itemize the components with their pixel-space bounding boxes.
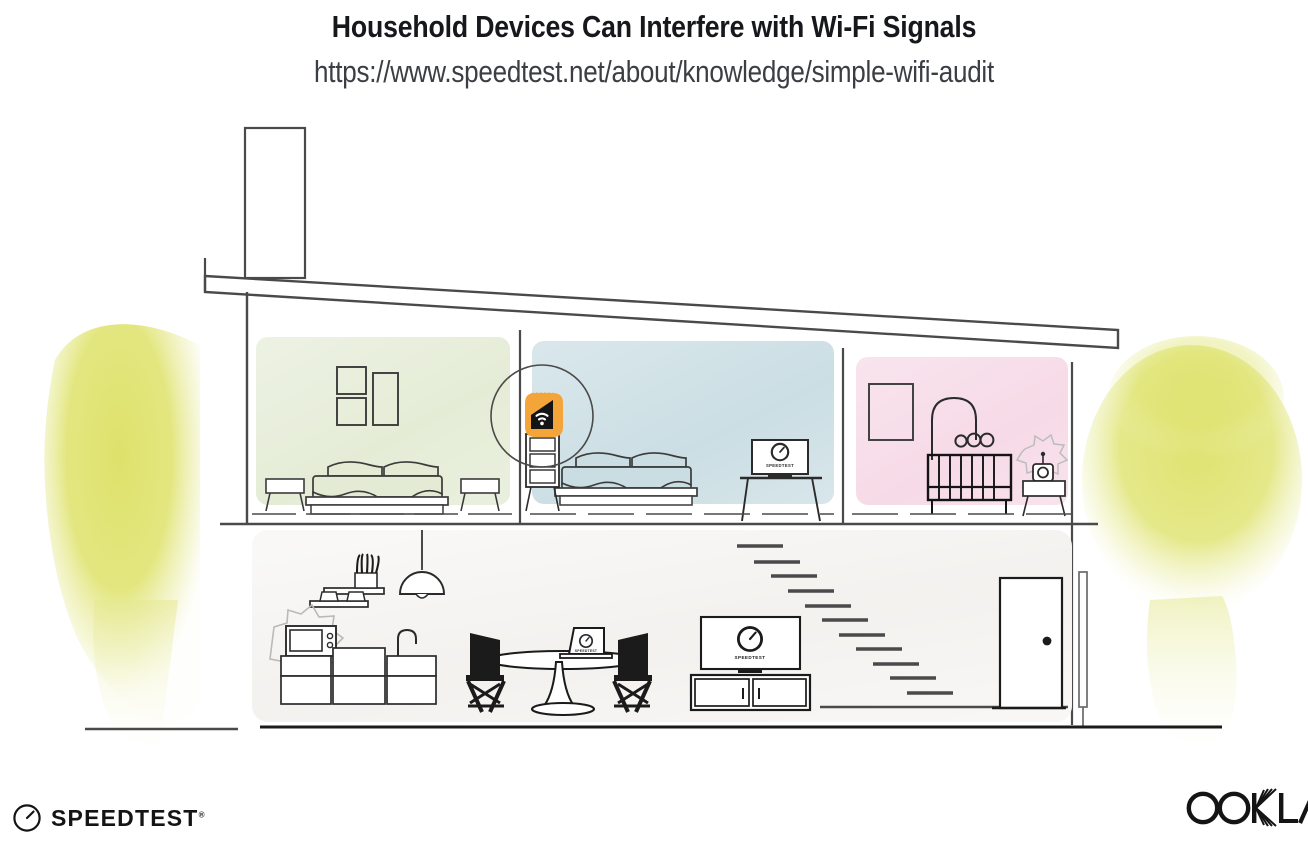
speedtest-logo: SPEEDTEST® <box>12 803 204 833</box>
media-console <box>691 675 810 710</box>
bed-green <box>306 462 448 514</box>
foliage-left <box>44 324 200 744</box>
microwave <box>286 626 336 656</box>
wifi-router[interactable] <box>525 393 563 437</box>
bed-blue <box>555 453 697 505</box>
house-illustration: SPEEDTEST <box>0 0 1308 861</box>
ookla-wordmark-icon: ™ <box>1184 786 1308 830</box>
speedtest-wordmark: SPEEDTEST® <box>51 807 204 830</box>
television[interactable]: SPEEDTEST <box>701 617 800 673</box>
chimney <box>245 128 305 278</box>
room-nursery-pink <box>852 357 1072 516</box>
front-door[interactable] <box>992 578 1066 708</box>
foliage-right <box>1082 336 1302 744</box>
roof <box>205 258 1118 348</box>
speedtest-wordmark-text: SPEEDTEST <box>51 805 199 831</box>
svg-text:SPEEDTEST: SPEEDTEST <box>735 655 766 660</box>
ground-lines <box>85 727 1222 729</box>
svg-text:SPEEDTEST: SPEEDTEST <box>766 463 794 468</box>
room-bedroom-green <box>252 337 512 514</box>
speedtest-trademark: ® <box>199 810 205 819</box>
downspout-pipe <box>1079 572 1087 726</box>
room-ground-floor: SPEEDTEST <box>252 530 1072 722</box>
ookla-logo: ™ <box>1184 786 1308 835</box>
door-handle-icon <box>1043 637 1052 646</box>
speedtest-gauge-icon <box>12 803 42 833</box>
room-bedroom-blue: SPEEDTEST <box>491 341 834 521</box>
svg-text:SPEEDTEST: SPEEDTEST <box>575 649 598 653</box>
page-root: Household Devices Can Interfere with Wi-… <box>0 0 1308 861</box>
